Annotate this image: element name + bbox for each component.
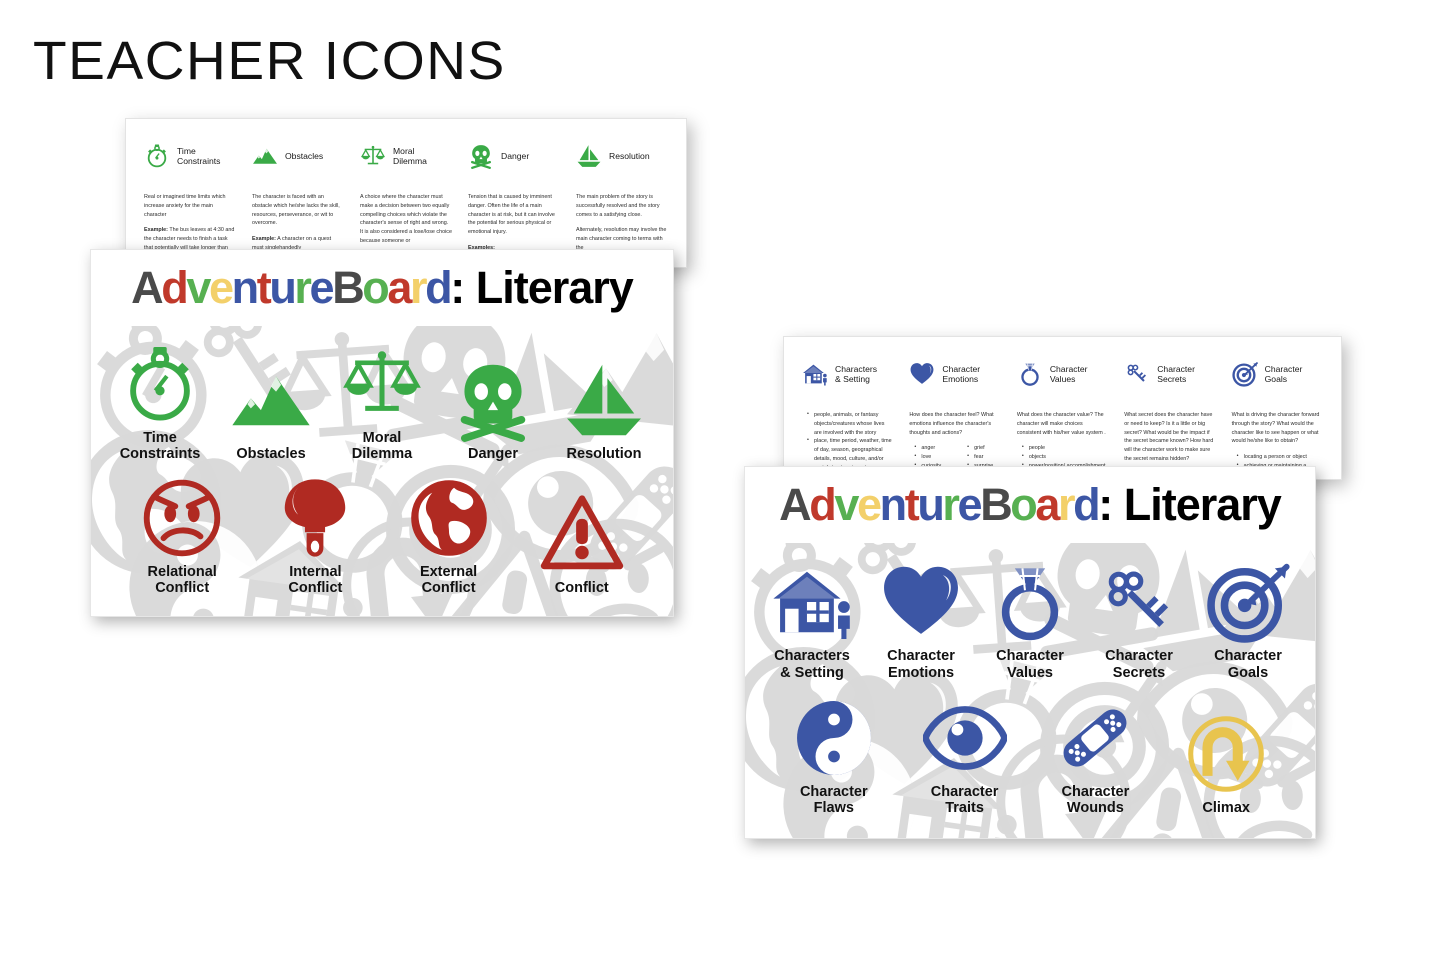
board-cell-icon[interactable] — [792, 696, 876, 780]
logo-letter: r — [942, 479, 957, 530]
blue-row-1: Characters & Setting Character Emotions … — [745, 560, 1315, 680]
target-icon — [1232, 361, 1258, 387]
reference-paragraph: The character is faced with an obstacle … — [252, 193, 344, 228]
board-cell[interactable]: Conflict — [540, 492, 624, 596]
skull-crossbones-icon — [451, 358, 535, 442]
board-cell-icon[interactable] — [1206, 560, 1290, 644]
reference-column-body: The main problem of the story is success… — [576, 193, 668, 253]
green-board-header: AdventureBoard: Literary — [91, 250, 673, 326]
logo-letter: o — [362, 262, 387, 313]
reference-column-header: Character Emotions — [909, 351, 1000, 397]
logo-letter: u — [917, 479, 942, 530]
reference-column-header: Character Goals — [1232, 351, 1323, 397]
board-cell-label: Relational Conflict — [148, 564, 217, 596]
heart-icon — [909, 361, 935, 387]
logo-letter: t — [257, 262, 270, 313]
reference-column: Character Values What does the character… — [1009, 351, 1116, 479]
reference-column-icon — [144, 143, 170, 169]
board-cell[interactable]: Character Flaws — [792, 696, 876, 816]
board-cell[interactable]: Character Goals — [1206, 560, 1290, 680]
board-cell-label: Resolution — [567, 446, 642, 462]
board-cell[interactable]: Character Traits — [923, 696, 1007, 816]
board-cell-label: Character Traits — [931, 784, 999, 816]
board-cell-label: Character Emotions — [887, 648, 955, 680]
reference-paragraph: How does the character feel? What emotio… — [909, 411, 1000, 437]
logo-letter: r — [410, 262, 425, 313]
reference-bullet: people, animals, or fantasy objects/crea… — [809, 411, 893, 437]
board-cell-label: Character Goals — [1214, 648, 1282, 680]
reference-column-icon — [252, 143, 278, 169]
key-icon — [1124, 361, 1150, 387]
blue-board-header: AdventureBoard: Literary — [745, 467, 1315, 543]
green-row-1: Time Constraints Obstacles Moral Dilemma — [91, 342, 673, 462]
reference-column-body: A choice where the character must make a… — [360, 193, 452, 246]
logo-letter: B — [332, 262, 362, 313]
reference-column-header: Obstacles — [252, 133, 344, 179]
board-cell-icon[interactable] — [562, 358, 646, 442]
skull-crossbones-icon — [468, 143, 494, 169]
reference-bullet: locating a person or object — [1239, 453, 1323, 462]
reference-column-title: Time Constraints — [177, 146, 220, 167]
reference-column-title: Characters & Setting — [835, 364, 877, 385]
reference-column-header: Resolution — [576, 133, 668, 179]
logo-letter: v — [186, 262, 209, 313]
logo-letter: a — [1035, 479, 1058, 530]
logo-letter: t — [905, 479, 918, 530]
reference-paragraph: A choice where the character must make a… — [360, 193, 452, 246]
logo-letter: d — [425, 262, 450, 313]
reference-column-icon — [360, 143, 386, 169]
green-board-body: Time Constraints Obstacles Moral Dilemma — [91, 326, 673, 616]
reference-paragraph: What does the character value? The chara… — [1017, 411, 1108, 437]
board-cell-label: Character Wounds — [1062, 784, 1130, 816]
reference-column-icon — [468, 143, 494, 169]
reference-bullet: anger — [916, 444, 948, 453]
reference-column-body: The character is faced with an obstacle … — [252, 193, 344, 253]
board-cell-icon[interactable] — [118, 342, 202, 426]
logo-letter: v — [834, 479, 857, 530]
logo-letter: u — [269, 262, 294, 313]
board-cell-label: Character Flaws — [800, 784, 868, 816]
blue-reference-card[interactable]: Characters & Setting people, animals, or… — [783, 336, 1342, 480]
board-cell-label: Climax — [1202, 800, 1250, 816]
yin-yang-icon — [792, 696, 876, 780]
logo-letter: r — [1058, 479, 1073, 530]
blue-icon-grid: Characters & Setting Character Emotions … — [745, 543, 1315, 838]
reference-column-body: What does the character value? The chara… — [1017, 411, 1108, 471]
logo-letter: B — [980, 479, 1010, 530]
green-reference-columns: Time Constraints Real or imagined time l… — [126, 119, 686, 267]
reference-bullet-list: people, animals, or fantasy objects/crea… — [802, 411, 893, 472]
board-cell-label: Obstacles — [236, 446, 305, 462]
logo-letter: r — [294, 262, 309, 313]
mountains-icon — [229, 358, 313, 442]
reference-column: Moral Dilemma A choice where the charact… — [352, 133, 460, 267]
reference-column-title: Character Goals — [1265, 364, 1303, 385]
board-cell[interactable]: Resolution — [562, 358, 646, 462]
reference-paragraph: Real or imagined time limits which incre… — [144, 193, 236, 219]
reference-bullet: objects — [1024, 453, 1108, 462]
house-icon — [802, 361, 828, 387]
board-cell[interactable]: Internal Conflict — [273, 476, 357, 596]
logo-letter: A — [131, 262, 161, 313]
reference-column-icon — [802, 361, 828, 387]
u-turn-arrow-icon — [1184, 712, 1268, 796]
board-cell-label: Time Constraints — [120, 430, 201, 462]
board-cell-icon[interactable] — [229, 358, 313, 442]
logo-suffix: : Literary — [450, 262, 633, 313]
key-icon — [1097, 560, 1181, 644]
logo-letter: o — [1010, 479, 1035, 530]
board-cell[interactable]: Danger — [451, 358, 535, 462]
reference-paragraph-label: Example: — [144, 227, 168, 233]
board-cell-icon[interactable] — [1097, 560, 1181, 644]
board-cell-icon[interactable] — [273, 476, 357, 560]
green-board: AdventureBoard: Literary — [91, 250, 673, 616]
board-cell-icon[interactable] — [923, 696, 1007, 780]
board-cell-label: Conflict — [555, 580, 609, 596]
reference-column-icon — [1017, 361, 1043, 387]
reference-bullet: love — [916, 453, 948, 462]
stopwatch-icon — [144, 143, 170, 169]
reference-column: Danger Tension that is caused by imminen… — [460, 133, 568, 267]
warning-triangle-icon — [540, 492, 624, 576]
logo-letter: e — [310, 262, 333, 313]
reference-paragraph: What is driving the character forward th… — [1232, 411, 1323, 446]
angry-face-icon — [140, 476, 224, 560]
reference-column-title: Character Emotions — [942, 364, 980, 385]
board-cell-icon[interactable] — [540, 492, 624, 576]
reference-paragraph: What secret does the character have or n… — [1124, 411, 1215, 464]
blue-board-card[interactable]: AdventureBoard: Literary — [744, 466, 1316, 839]
reference-column: Character Secrets What secret does the c… — [1116, 351, 1223, 479]
board-cell-icon[interactable] — [140, 476, 224, 560]
logo-letter: A — [779, 479, 809, 530]
eye-icon — [923, 696, 1007, 780]
logo-letter: a — [387, 262, 410, 313]
logo-suffix: : Literary — [1098, 479, 1281, 530]
board-cell[interactable]: Relational Conflict — [140, 476, 224, 596]
board-cell-label: Internal Conflict — [288, 564, 342, 596]
reference-column-title: Danger — [501, 151, 529, 161]
board-cell[interactable]: External Conflict — [407, 476, 491, 596]
target-icon — [1206, 560, 1290, 644]
logo-letter: e — [209, 262, 232, 313]
bandage-icon — [1053, 696, 1137, 780]
globe-icon — [407, 476, 491, 560]
reference-bullet: grief — [969, 444, 1001, 453]
board-cell[interactable]: Character Secrets — [1097, 560, 1181, 680]
reference-column-title: Character Secrets — [1157, 364, 1195, 385]
stopwatch-icon — [118, 342, 202, 426]
reference-column-title: Obstacles — [285, 151, 323, 161]
reference-paragraph: Tension that is caused by imminent dange… — [468, 193, 560, 237]
reference-column-body: What secret does the character have or n… — [1124, 411, 1215, 464]
reference-column-title: Resolution — [609, 151, 650, 161]
page-title: TEACHER ICONS — [33, 30, 506, 92]
reference-column: Time Constraints Real or imagined time l… — [136, 133, 244, 267]
logo-letter: n — [880, 479, 905, 530]
board-cell-icon[interactable] — [1184, 712, 1268, 796]
reference-column: Character Emotions How does the characte… — [901, 351, 1008, 479]
reference-column-header: Time Constraints — [144, 133, 236, 179]
blue-board: AdventureBoard: Literary — [745, 467, 1315, 838]
reference-column-header: Danger — [468, 133, 560, 179]
board-cell-label: Character Values — [996, 648, 1064, 680]
mountains-icon — [252, 143, 278, 169]
board-cell-label: Character Secrets — [1105, 648, 1173, 680]
reference-column-header: Character Values — [1017, 351, 1108, 397]
blue-board-body: Characters & Setting Character Emotions … — [745, 543, 1315, 838]
adventureboard-logo: AdventureBoard: Literary — [131, 262, 633, 314]
board-cell[interactable]: Time Constraints — [118, 342, 202, 462]
reference-paragraph: The main problem of the story is success… — [576, 193, 668, 219]
logo-letter: d — [1073, 479, 1098, 530]
blue-reference-columns: Characters & Setting people, animals, or… — [784, 337, 1341, 479]
board-cell-label: Moral Dilemma — [352, 430, 412, 462]
reference-column: Characters & Setting people, animals, or… — [794, 351, 901, 479]
board-cell[interactable]: Characters & Setting — [770, 560, 854, 680]
board-cell-icon[interactable] — [879, 560, 963, 644]
reference-column-header: Character Secrets — [1124, 351, 1215, 397]
board-cell-label: Characters & Setting — [774, 648, 850, 680]
scales-icon — [340, 342, 424, 426]
board-cell[interactable]: Climax — [1184, 712, 1268, 816]
reference-column-header: Moral Dilemma — [360, 133, 452, 179]
green-reference-card[interactable]: Time Constraints Real or imagined time l… — [125, 118, 687, 268]
reference-bullet: people — [1024, 444, 1108, 453]
board-cell[interactable]: Character Emotions — [879, 560, 963, 680]
logo-letter: d — [809, 479, 834, 530]
board-cell[interactable]: Obstacles — [229, 358, 313, 462]
board-cell[interactable]: Character Values — [988, 560, 1072, 680]
board-cell[interactable]: Moral Dilemma — [340, 342, 424, 462]
green-board-card[interactable]: AdventureBoard: Literary — [90, 249, 674, 617]
reference-column: Resolution The main problem of the story… — [568, 133, 676, 267]
reference-column-icon — [1232, 361, 1258, 387]
reference-column-icon — [1124, 361, 1150, 387]
reference-column-body: Tension that is caused by imminent dange… — [468, 193, 560, 253]
green-icon-grid: Time Constraints Obstacles Moral Dilemma — [91, 326, 673, 616]
reference-column-header: Characters & Setting — [802, 351, 893, 397]
ring-icon — [1017, 361, 1043, 387]
logo-letter: e — [958, 479, 981, 530]
ring-icon — [988, 560, 1072, 644]
board-cell-icon[interactable] — [451, 358, 535, 442]
reference-bullet: fear — [969, 453, 1001, 462]
heart-icon — [879, 560, 963, 644]
green-row-2: Relational Conflict Internal Conflict Ex… — [91, 476, 673, 596]
hand-mirror-icon — [273, 476, 357, 560]
reference-column-icon — [909, 361, 935, 387]
scales-icon — [360, 143, 386, 169]
board-cell-icon[interactable] — [1053, 696, 1137, 780]
logo-letter: d — [161, 262, 186, 313]
house-icon — [770, 560, 854, 644]
board-cell-icon[interactable] — [407, 476, 491, 560]
reference-column-icon — [576, 143, 602, 169]
reference-column-body: people, animals, or fantasy objects/crea… — [802, 411, 893, 472]
board-cell[interactable]: Character Wounds — [1053, 696, 1137, 816]
reference-column-title: Moral Dilemma — [393, 146, 427, 167]
adventureboard-logo: AdventureBoard: Literary — [779, 479, 1281, 531]
logo-letter: e — [857, 479, 880, 530]
reference-column-title: Character Values — [1050, 364, 1088, 385]
reference-column: Character Goals What is driving the char… — [1224, 351, 1331, 479]
reference-paragraph-label: Example: — [252, 236, 276, 242]
board-cell-icon[interactable] — [988, 560, 1072, 644]
board-cell-label: Danger — [468, 446, 518, 462]
blue-row-2: Character Flaws Character Traits Charact… — [745, 696, 1315, 816]
board-cell-label: External Conflict — [420, 564, 477, 596]
reference-column: Obstacles The character is faced with an… — [244, 133, 352, 267]
board-cell-icon[interactable] — [770, 560, 854, 644]
board-cell-icon[interactable] — [340, 342, 424, 426]
sailboat-icon — [562, 358, 646, 442]
logo-letter: n — [232, 262, 257, 313]
sailboat-icon — [576, 143, 602, 169]
